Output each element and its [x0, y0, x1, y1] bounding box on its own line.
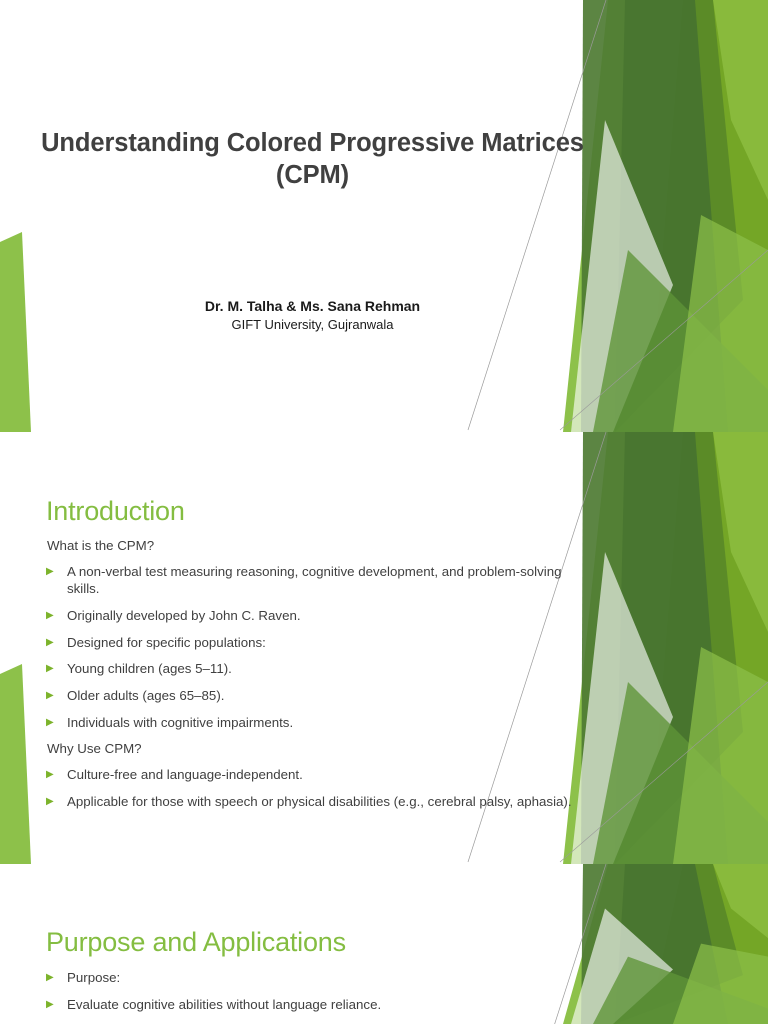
bullet-triangle-icon: ▶	[46, 687, 67, 704]
authors-line: Dr. M. Talha & Ms. Sana Rehman	[40, 297, 585, 316]
content-list: ▶ Purpose: ▶ Evaluate cognitive abilitie…	[46, 969, 578, 1022]
list-item-text: Young children (ages 5–11).	[67, 660, 578, 678]
list-item-text: What is the CPM?	[47, 537, 578, 555]
list-item-text: Evaluate cognitive abilities without lan…	[67, 996, 578, 1014]
bullet-triangle-icon: ▶	[46, 996, 67, 1013]
list-item: Why Use CPM?	[46, 740, 578, 758]
slide-heading-introduction: Introduction	[46, 496, 185, 527]
slide-deck: Understanding Colored Progressive Matric…	[0, 0, 768, 1024]
list-item-text: Why Use CPM?	[47, 740, 578, 758]
bullet-triangle-icon: ▶	[46, 793, 67, 810]
slide-purpose-and-applications: Purpose and Applications ▶ Purpose: ▶ Ev…	[0, 864, 768, 1024]
facet-decoration-right	[553, 432, 768, 864]
content-list: What is the CPM? ▶ A non-verbal test mea…	[46, 537, 578, 819]
affiliation-line: GIFT University, Gujranwala	[40, 316, 585, 334]
bullet-triangle-icon: ▶	[46, 766, 67, 783]
author-block: Dr. M. Talha & Ms. Sana Rehman GIFT Univ…	[40, 297, 585, 334]
bullet-triangle-icon: ▶	[46, 563, 67, 580]
bullet-triangle-icon: ▶	[46, 607, 67, 624]
list-item: ▶ Older adults (ages 65–85).	[46, 687, 578, 705]
list-item: ▶ Applicable for those with speech or ph…	[46, 793, 578, 811]
list-item: ▶ Originally developed by John C. Raven.	[46, 607, 578, 625]
bullet-triangle-icon: ▶	[46, 714, 67, 731]
list-item-text: Individuals with cognitive impairments.	[67, 714, 578, 732]
facet-decoration-right	[553, 864, 768, 1024]
list-item: What is the CPM?	[46, 537, 578, 555]
list-item: ▶ Individuals with cognitive impairments…	[46, 714, 578, 732]
list-item-text: Applicable for those with speech or phys…	[67, 793, 578, 811]
list-item-text: Purpose:	[67, 969, 578, 987]
facet-decoration-right	[553, 0, 768, 432]
slide-introduction: Introduction What is the CPM? ▶ A non-ve…	[0, 432, 768, 864]
list-item-text: Culture-free and language-independent.	[67, 766, 578, 784]
list-item-text: Designed for specific populations:	[67, 634, 578, 652]
list-item: ▶ Culture-free and language-independent.	[46, 766, 578, 784]
hairline-diagonal-2	[560, 250, 768, 432]
list-item-text: Older adults (ages 65–85).	[67, 687, 578, 705]
list-item: ▶ Designed for specific populations:	[46, 634, 578, 652]
list-item: ▶ A non-verbal test measuring reasoning,…	[46, 563, 578, 598]
hairline-diagonal-2	[560, 682, 768, 864]
list-item: ▶ Purpose:	[46, 969, 578, 987]
bullet-triangle-icon: ▶	[46, 634, 67, 651]
hairline-diagonal-1	[468, 0, 608, 432]
slide-title: Understanding Colored Progressive Matric…	[0, 0, 768, 432]
list-item-text: A non-verbal test measuring reasoning, c…	[67, 563, 578, 598]
page-title: Understanding Colored Progressive Matric…	[40, 128, 585, 192]
list-item: ▶ Young children (ages 5–11).	[46, 660, 578, 678]
list-item-text: Originally developed by John C. Raven.	[67, 607, 578, 625]
slide-heading-purpose: Purpose and Applications	[46, 927, 346, 958]
title-block: Understanding Colored Progressive Matric…	[40, 128, 585, 192]
list-item: ▶ Evaluate cognitive abilities without l…	[46, 996, 578, 1014]
bullet-triangle-icon: ▶	[46, 660, 67, 677]
bullet-triangle-icon: ▶	[46, 969, 67, 986]
